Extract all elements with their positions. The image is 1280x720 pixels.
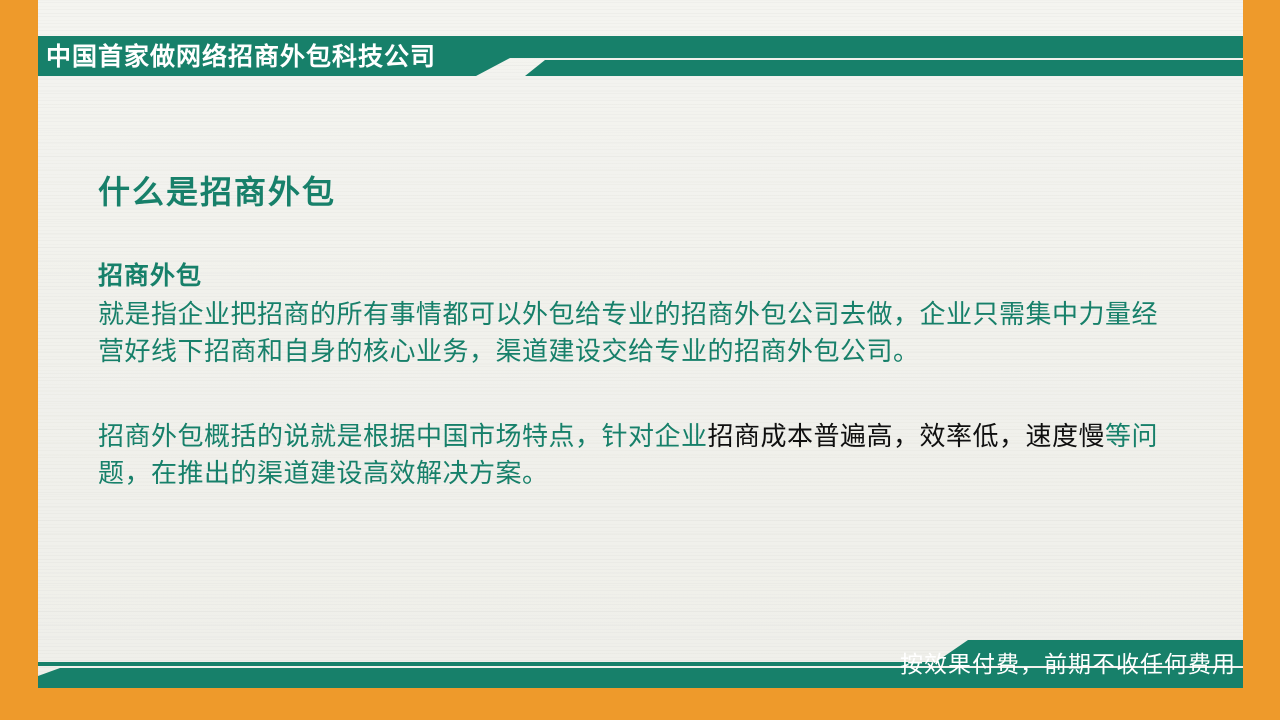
slide-root: 中国首家做网络招商外包科技公司 什么是招商外包 招商外包 就是指企业把招商的所有…	[0, 0, 1280, 720]
footer-title: 按效果付费，前期不收任何费用	[900, 650, 1236, 678]
slide-content: 什么是招商外包 招商外包 就是指企业把招商的所有事情都可以外包给专业的招商外包公…	[98, 172, 1178, 492]
paragraph-definition: 就是指企业把招商的所有事情都可以外包给专业的招商外包公司去做，企业只需集中力量经…	[98, 296, 1178, 370]
summary-segment-teal-lead: 招商外包概括的说就是根据中国市场特点，针对企业	[98, 421, 708, 451]
header-title: 中国首家做网络招商外包科技公司	[46, 44, 436, 70]
summary-segment-highlight: 招商成本普遍高，效率低，速度慢	[708, 421, 1106, 451]
paragraph-summary: 招商外包概括的说就是根据中国市场特点，针对企业招商成本普遍高，效率低，速度慢等问…	[98, 418, 1178, 492]
term-label: 招商外包	[98, 260, 1178, 292]
page-title: 什么是招商外包	[98, 172, 1178, 212]
body-block: 招商外包 就是指企业把招商的所有事情都可以外包给专业的招商外包公司去做，企业只需…	[98, 260, 1178, 492]
